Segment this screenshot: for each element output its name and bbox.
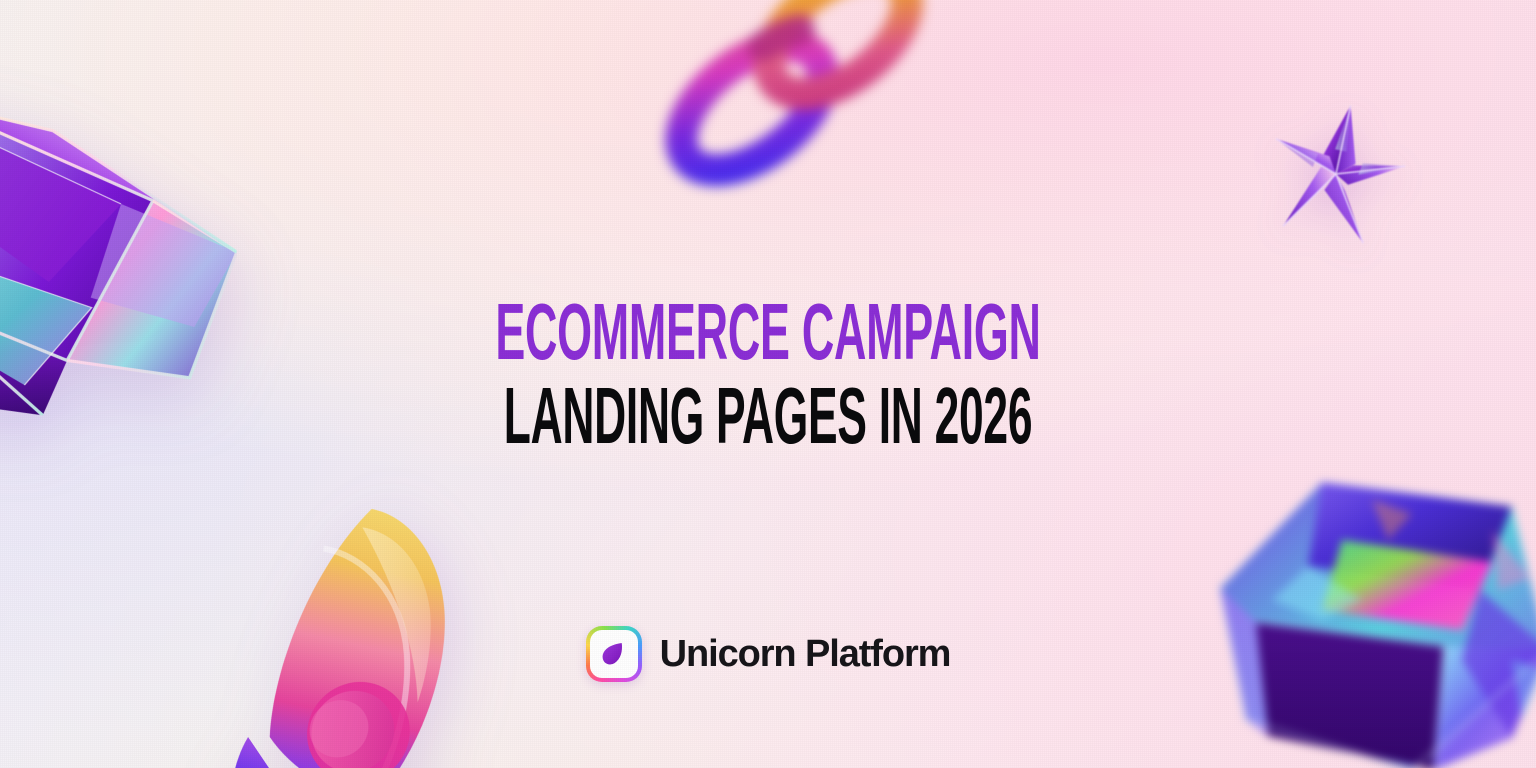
crystal-cube-icon [1212, 470, 1536, 768]
rocket-icon [73, 465, 567, 768]
star-icon [1248, 84, 1424, 263]
headline-line-1: ECOMMERCE CAMPAIGN [337, 290, 1199, 374]
chain-links-icon [628, 0, 958, 186]
hero-banner: ECOMMERCE CAMPAIGN LANDING PAGES IN 2026… [0, 0, 1536, 768]
unicorn-droplet-icon [599, 639, 629, 669]
logo-inner-plate [590, 630, 638, 678]
brand-name: Unicorn Platform [660, 633, 951, 676]
headline-block: ECOMMERCE CAMPAIGN LANDING PAGES IN 2026 [0, 290, 1536, 458]
unicorn-platform-logo-icon [586, 626, 642, 682]
brand-lockup: Unicorn Platform [0, 626, 1536, 682]
headline-line-2: LANDING PAGES IN 2026 [342, 374, 1194, 458]
